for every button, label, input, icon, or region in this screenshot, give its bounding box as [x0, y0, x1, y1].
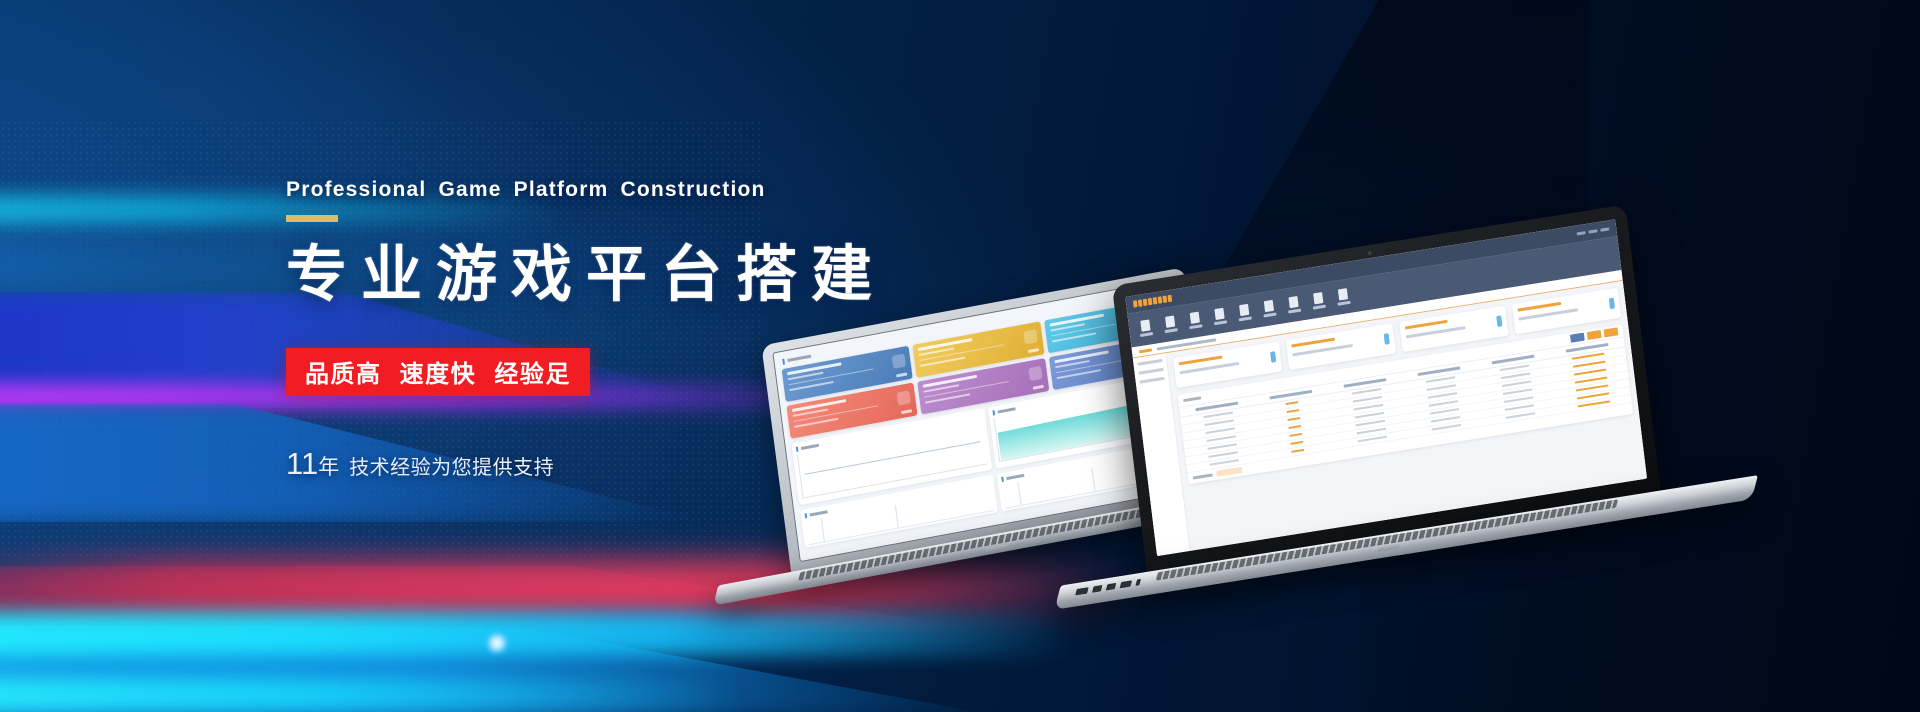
- toolbar-item[interactable]: [1262, 300, 1277, 318]
- sidebar-item[interactable]: [1139, 368, 1164, 375]
- toolbar-item[interactable]: [1163, 315, 1178, 333]
- trend-icon: [1496, 315, 1502, 327]
- headline-text: 专业游戏平台搭建: [286, 240, 906, 308]
- toolbar-item[interactable]: [1311, 292, 1326, 310]
- badge-item-speed: 速度快: [400, 361, 477, 388]
- face-icon: [1023, 329, 1037, 344]
- gold-divider-rule: [286, 215, 338, 222]
- query-button[interactable]: [1570, 333, 1585, 343]
- toolbar-item[interactable]: [1138, 319, 1153, 337]
- sidebar-item[interactable]: [1137, 359, 1162, 366]
- years-number: 11: [286, 446, 318, 481]
- badge-item-experience: 经验足: [494, 361, 571, 388]
- toolbar-item[interactable]: [1237, 303, 1252, 321]
- app-logo: [1133, 295, 1172, 308]
- reset-button[interactable]: [1604, 327, 1619, 337]
- footnote-text: 技术经验为您提供支持: [349, 457, 554, 479]
- home-icon[interactable]: [1139, 348, 1152, 353]
- toolbar-item[interactable]: [1188, 311, 1203, 329]
- database-icon: [1165, 316, 1175, 328]
- file-icon: [1140, 319, 1150, 331]
- banner-copy-block: Professional Game Platform Construction …: [286, 178, 906, 482]
- trackpad: [1377, 544, 1400, 552]
- usb-port-icon: [1092, 585, 1103, 593]
- trend-icon: [1270, 351, 1276, 363]
- settings-icon: [1313, 292, 1323, 304]
- list-icon: [1288, 296, 1298, 308]
- report-icon: [1214, 308, 1224, 320]
- feature-badge: 品质高 速度快 经验足: [286, 348, 590, 396]
- eyebrow-text: Professional Game Platform Construction: [286, 178, 906, 202]
- badge-item-quality: 品质高: [305, 361, 382, 388]
- port-cluster: [1075, 574, 1168, 597]
- export-button[interactable]: [1587, 330, 1602, 340]
- summary-badge: [1216, 467, 1242, 477]
- sidebar-item[interactable]: [1140, 377, 1165, 384]
- toolbar-item[interactable]: [1212, 307, 1227, 325]
- toolbar-item[interactable]: [1336, 288, 1351, 306]
- user-menu[interactable]: [1577, 227, 1610, 235]
- pin-icon: [1190, 312, 1200, 324]
- webcam-icon: [1367, 251, 1371, 256]
- experience-footnote: 11年技术经验为您提供支持: [286, 446, 906, 482]
- download-icon: [1338, 288, 1348, 300]
- laptop-front-black: [1112, 198, 1702, 584]
- trend-icon: [1383, 333, 1389, 345]
- grid-icon: [1264, 300, 1274, 312]
- usb-port-icon: [1106, 583, 1117, 591]
- years-unit: 年: [318, 456, 339, 479]
- card-slot-icon: [1075, 587, 1089, 595]
- chart-icon: [1239, 304, 1249, 316]
- hdmi-port-icon: [1120, 580, 1133, 588]
- promotional-banner: Professional Game Platform Construction …: [0, 0, 1920, 712]
- clock-icon: [1028, 366, 1042, 381]
- audio-jack-icon: [1135, 579, 1141, 586]
- toolbar-item[interactable]: [1287, 296, 1302, 314]
- trend-icon: [1609, 297, 1615, 309]
